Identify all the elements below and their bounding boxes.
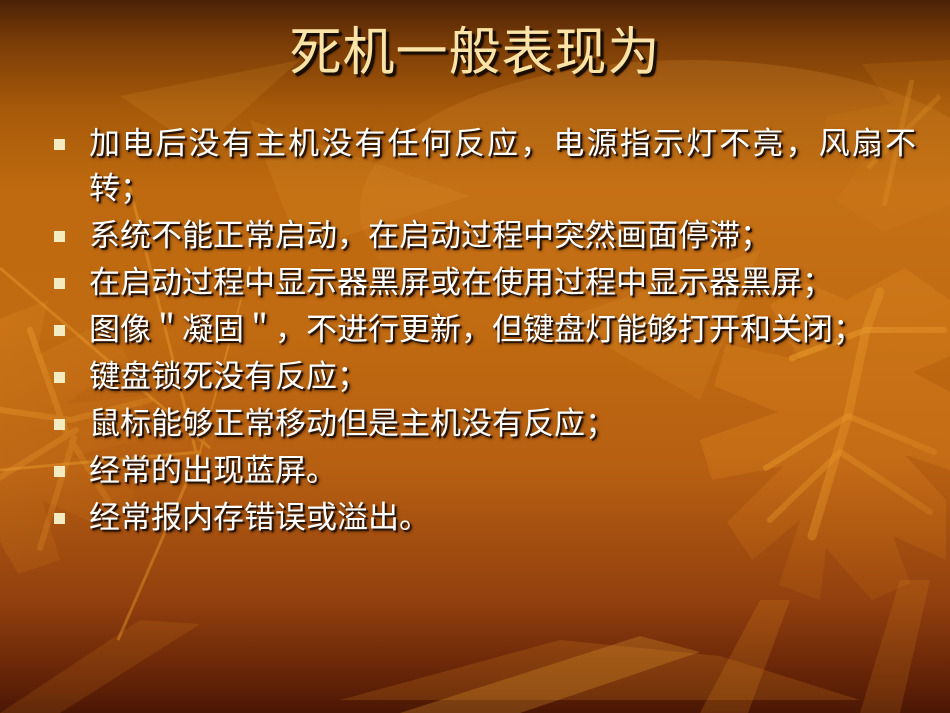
list-item: 鼠标能够正常移动但是主机没有反应； xyxy=(54,402,916,447)
slide-body-list: 加电后没有主机没有任何反应，电源指示灯不亮，风扇不转； 系统不能正常启动，在启动… xyxy=(54,122,916,543)
list-item: 经常的出现蓝屏。 xyxy=(54,449,916,494)
square-bullet-icon xyxy=(54,372,65,383)
slide-title-block: 死机一般表现为 xyxy=(0,22,950,84)
square-bullet-icon xyxy=(54,278,65,289)
page-title: 死机一般表现为 xyxy=(289,22,660,84)
presentation-slide: 死机一般表现为 加电后没有主机没有任何反应，电源指示灯不亮，风扇不转； 系统不能… xyxy=(0,0,950,713)
list-item-text: 加电后没有主机没有任何反应，电源指示灯不亮，风扇不转； xyxy=(89,122,916,212)
square-bullet-icon xyxy=(54,513,65,524)
square-bullet-icon xyxy=(54,419,65,430)
list-item: 在启动过程中显示器黑屏或在使用过程中显示器黑屏； xyxy=(54,261,916,306)
list-item: 经常报内存错误或溢出。 xyxy=(54,496,916,541)
list-item-text: 在启动过程中显示器黑屏或在使用过程中显示器黑屏； xyxy=(89,261,916,306)
square-bullet-icon xyxy=(54,231,65,242)
list-item: 键盘锁死没有反应； xyxy=(54,355,916,400)
list-item-text: 系统不能正常启动，在启动过程中突然画面停滞； xyxy=(89,214,916,259)
square-bullet-icon xyxy=(54,139,65,150)
list-item: 加电后没有主机没有任何反应，电源指示灯不亮，风扇不转； xyxy=(54,122,916,212)
list-item-text: 经常报内存错误或溢出。 xyxy=(89,496,916,541)
square-bullet-icon xyxy=(54,466,65,477)
list-item: 图像＂凝固＂，不进行更新，但键盘灯能够打开和关闭； xyxy=(54,308,916,353)
list-item-text: 鼠标能够正常移动但是主机没有反应； xyxy=(89,402,916,447)
square-bullet-icon xyxy=(54,325,65,336)
list-item-text: 经常的出现蓝屏。 xyxy=(89,449,916,494)
list-item-text: 键盘锁死没有反应； xyxy=(89,355,916,400)
list-item: 系统不能正常启动，在启动过程中突然画面停滞； xyxy=(54,214,916,259)
list-item-text: 图像＂凝固＂，不进行更新，但键盘灯能够打开和关闭； xyxy=(89,308,916,353)
bottom-ribbons xyxy=(0,580,930,713)
